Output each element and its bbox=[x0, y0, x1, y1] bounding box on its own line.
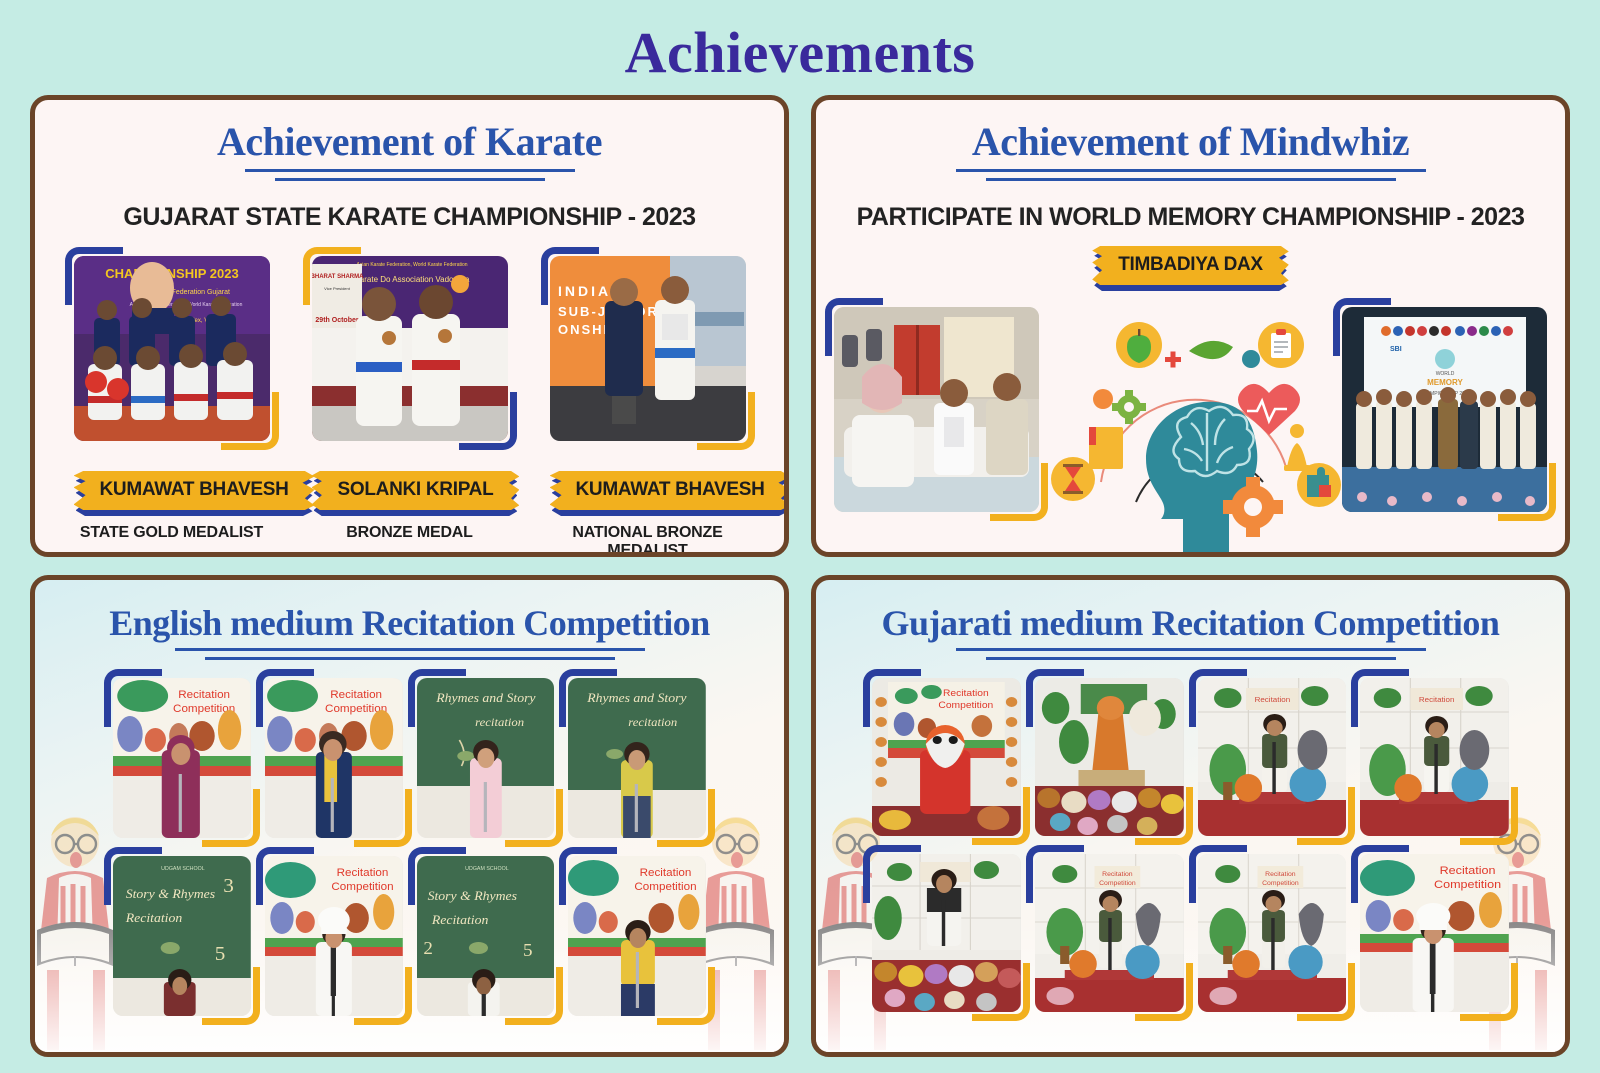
karate-photo-team: CHAMPIONSHIP 2023 Karate Do Federation G… bbox=[74, 256, 270, 441]
plus-icon bbox=[1165, 352, 1181, 368]
photo-box[interactable]: Recitation Competition bbox=[1360, 854, 1509, 1012]
svg-text:recitation: recitation bbox=[475, 715, 524, 729]
karate-team-photo-art: CHAMPIONSHIP 2023 Karate Do Federation G… bbox=[74, 256, 270, 441]
svg-text:Story & Rhymes: Story & Rhymes bbox=[427, 888, 516, 903]
card-english-recitation: English medium Recitation Competition Re… bbox=[30, 575, 789, 1057]
photo-box[interactable] bbox=[1035, 678, 1184, 836]
mindwhiz-body: SBI WORLD MEMORY CHAMPIONSHIP 2023 bbox=[816, 289, 1565, 557]
svg-text:BHARAT SHARMA: BHARAT SHARMA bbox=[312, 274, 364, 280]
recitation-photo: Recitation Competition bbox=[1035, 854, 1184, 1012]
achievements-grid: Achievement of Karate GUJARAT STATE KARA… bbox=[0, 95, 1600, 1057]
karate-photo-pair: Asian Karate Federation, World Karate Fe… bbox=[312, 256, 508, 441]
karate-name-2: SOLANKI KRIPAL bbox=[312, 471, 520, 510]
photo-box[interactable]: Recitation Competition bbox=[1198, 854, 1347, 1012]
photo-box[interactable]: Recitation Competition bbox=[113, 678, 251, 838]
recitation-photo-art: UDGAM SCHOOL Story & Rhymes Recitation 2… bbox=[417, 856, 555, 1016]
photo-box[interactable]: Recitation Competition bbox=[872, 678, 1021, 836]
svg-text:Recitation: Recitation bbox=[640, 867, 692, 879]
english-photo-grid: Recitation Competition bbox=[35, 660, 784, 1016]
photo-box[interactable]: CHAMPIONSHIP 2023 Karate Do Federation G… bbox=[74, 256, 270, 441]
svg-text:Recitation: Recitation bbox=[336, 867, 388, 879]
recitation-photo: Recitation Competition bbox=[568, 856, 706, 1016]
recitation-photo: Recitation Competition bbox=[1198, 854, 1347, 1012]
photo-box[interactable] bbox=[834, 307, 1039, 512]
photo-box[interactable]: SBI WORLD MEMORY CHAMPIONSHIP 2023 bbox=[1342, 307, 1547, 512]
recitation-photo-art: Recitation Competition bbox=[1360, 854, 1509, 1012]
recitation-photo-art: Recitation Competition bbox=[568, 856, 706, 1016]
svg-text:Competition: Competition bbox=[1099, 880, 1136, 887]
mindwhiz-title: Achievement of Mindwhiz bbox=[816, 100, 1565, 165]
svg-text:Recitation: Recitation bbox=[1419, 695, 1455, 703]
flag-row bbox=[1381, 326, 1513, 336]
photo-box[interactable]: Recitation Competition bbox=[265, 678, 403, 838]
recitation-photo-art: Recitation Competition bbox=[872, 678, 1021, 836]
svg-text:MEMORY: MEMORY bbox=[1427, 378, 1463, 387]
photo-box[interactable]: Recitation bbox=[1360, 678, 1509, 836]
rule-line bbox=[275, 178, 545, 181]
hourglass-icon-bg bbox=[1051, 457, 1095, 501]
karate-entry: KUMAWAT BHAVESH NATIONAL BRONZE MEDALIST bbox=[550, 471, 746, 557]
photo-box[interactable]: Asian Karate Federation, World Karate Fe… bbox=[312, 256, 508, 441]
gear-icon bbox=[1112, 390, 1146, 424]
svg-text:recitation: recitation bbox=[629, 715, 678, 729]
svg-text:5: 5 bbox=[522, 940, 532, 960]
photo-box[interactable]: Rhymes and Story recitation bbox=[417, 678, 555, 838]
gujarati-title-rules bbox=[816, 648, 1565, 660]
svg-text:3: 3 bbox=[223, 875, 234, 896]
recitation-photo-art: Rhymes and Story recitation bbox=[417, 678, 555, 838]
photo-box[interactable]: Recitation Competition bbox=[1035, 854, 1184, 1012]
gujarati-photo-grid: Recitation Competition bbox=[816, 660, 1565, 1012]
karate-official-photo-art: INDIA SUB-JUNIOR ONSHIP bbox=[550, 256, 746, 441]
svg-text:Rhymes and Story: Rhymes and Story bbox=[435, 690, 535, 705]
mindwhiz-student-name: TIMBADIYA DAX bbox=[1092, 246, 1289, 285]
name-ribbon: KUMAWAT BHAVESH bbox=[74, 471, 315, 510]
karate-pair-photo-art: Asian Karate Federation, World Karate Fe… bbox=[312, 256, 508, 441]
karate-photo-row: CHAMPIONSHIP 2023 Karate Do Federation G… bbox=[35, 256, 784, 441]
chess-piece-icon bbox=[1284, 424, 1310, 471]
mindwhiz-name-row: TIMBADIYA DAX bbox=[816, 246, 1565, 285]
svg-text:Recitation: Recitation bbox=[178, 689, 230, 701]
recitation-photo: Recitation Competition bbox=[265, 856, 403, 1016]
karate-caption-2: BRONZE MEDAL bbox=[312, 524, 508, 542]
karate-title: Achievement of Karate bbox=[35, 100, 784, 165]
recitation-photo: Recitation Competition bbox=[265, 678, 403, 838]
svg-text:Vice President: Vice President bbox=[324, 286, 351, 291]
svg-text:Story & Rhymes: Story & Rhymes bbox=[126, 886, 215, 901]
recitation-photo: UDGAM SCHOOL Story & Rhymes Recitation 2… bbox=[417, 856, 555, 1016]
name-ribbon: TIMBADIYA DAX bbox=[1092, 246, 1289, 285]
karate-name-3: KUMAWAT BHAVESH bbox=[550, 471, 790, 510]
svg-text:Recitation: Recitation bbox=[125, 910, 183, 925]
svg-text:2: 2 bbox=[423, 938, 433, 958]
photo-box[interactable] bbox=[872, 854, 1021, 1012]
name-ribbon: SOLANKI KRIPAL bbox=[312, 471, 520, 510]
karate-photo-official: INDIA SUB-JUNIOR ONSHIP bbox=[550, 256, 746, 441]
karate-title-rules bbox=[35, 169, 784, 181]
svg-text:UDGAM SCHOOL: UDGAM SCHOOL bbox=[161, 866, 205, 872]
recitation-photo: Recitation Competition bbox=[113, 678, 251, 838]
photo-box[interactable]: Recitation Competition bbox=[265, 856, 403, 1016]
recitation-photo: Recitation Competition bbox=[872, 678, 1021, 836]
english-title-rules bbox=[35, 648, 784, 660]
svg-text:Competition: Competition bbox=[331, 881, 393, 893]
recitation-photo-art: Recitation Competition bbox=[265, 678, 403, 838]
card-karate: Achievement of Karate GUJARAT STATE KARA… bbox=[30, 95, 789, 557]
karate-name-row: KUMAWAT BHAVESH STATE GOLD MEDALIST SOLA… bbox=[35, 471, 784, 557]
brain-infographic bbox=[1039, 307, 1342, 557]
rule-line bbox=[986, 178, 1396, 181]
card-mindwhiz: Achievement of Mindwhiz PARTICIPATE IN W… bbox=[811, 95, 1570, 557]
recitation-photo-art: UDGAM SCHOOL Story & Rhymes Recitation 3… bbox=[113, 856, 251, 1016]
recitation-photo-art: Recitation Competition bbox=[113, 678, 251, 838]
recitation-photo-art bbox=[1035, 678, 1184, 836]
karate-caption-1: STATE GOLD MEDALIST bbox=[74, 524, 270, 542]
svg-text:Asian Karate Federation, World: Asian Karate Federation, World Karate Fe… bbox=[356, 262, 467, 268]
karate-entry: KUMAWAT BHAVESH STATE GOLD MEDALIST bbox=[74, 471, 270, 557]
mindwhiz-stage-photo-art: SBI WORLD MEMORY CHAMPIONSHIP 2023 bbox=[1342, 307, 1547, 512]
rule-line bbox=[956, 648, 1426, 651]
recitation-photo-art: Recitation bbox=[1360, 678, 1509, 836]
mindwhiz-seated-photo-art bbox=[834, 307, 1039, 512]
recitation-photo-art: Recitation Competition bbox=[265, 856, 403, 1016]
svg-text:5: 5 bbox=[215, 943, 226, 964]
head-silhouette bbox=[1146, 402, 1257, 557]
svg-text:UDGAM SCHOOL: UDGAM SCHOOL bbox=[465, 866, 509, 872]
recitation-photo: UDGAM SCHOOL Story & Rhymes Recitation 3… bbox=[113, 856, 251, 1016]
recitation-photo: Recitation bbox=[1198, 678, 1347, 836]
recitation-photo-art: Recitation Competition bbox=[1198, 854, 1347, 1012]
photo-box[interactable]: INDIA SUB-JUNIOR ONSHIP bbox=[550, 256, 746, 441]
brain-infographic-art bbox=[1041, 307, 1341, 557]
recitation-photo: Rhymes and Story recitation bbox=[417, 678, 555, 838]
mindwhiz-photo-stage: SBI WORLD MEMORY CHAMPIONSHIP 2023 bbox=[1342, 307, 1547, 512]
mindwhiz-photo-seated bbox=[834, 307, 1039, 512]
karate-name-1: KUMAWAT BHAVESH bbox=[74, 471, 315, 510]
recitation-photo-art: Recitation Competition bbox=[1035, 854, 1184, 1012]
svg-text:INDIA: INDIA bbox=[558, 283, 611, 299]
photo-box[interactable]: Recitation bbox=[1198, 678, 1347, 836]
svg-text:Recitation: Recitation bbox=[1440, 864, 1496, 877]
rule-line bbox=[175, 648, 645, 651]
rule-line bbox=[245, 169, 575, 172]
karate-caption-3: NATIONAL BRONZE MEDALIST bbox=[550, 524, 746, 557]
dot-icon bbox=[1093, 389, 1113, 409]
recitation-photo-art: Rhymes and Story recitation bbox=[568, 678, 706, 838]
svg-text:Rhymes and Story: Rhymes and Story bbox=[586, 690, 686, 705]
dot-icon bbox=[1242, 350, 1260, 368]
recitation-photo: Rhymes and Story recitation bbox=[568, 678, 706, 838]
name-ribbon: KUMAWAT BHAVESH bbox=[550, 471, 790, 510]
recitation-photo-art bbox=[872, 854, 1021, 1012]
karate-subtitle: GUJARAT STATE KARATE CHAMPIONSHIP - 2023 bbox=[35, 203, 784, 232]
photo-box[interactable]: Rhymes and Story recitation bbox=[568, 678, 706, 838]
photo-box[interactable]: UDGAM SCHOOL Story & Rhymes Recitation 3… bbox=[113, 856, 251, 1016]
mindwhiz-title-rules bbox=[816, 169, 1565, 181]
photo-box[interactable]: Recitation Competition bbox=[568, 856, 706, 1016]
page-title: Achievements bbox=[0, 0, 1600, 95]
svg-text:Recitation: Recitation bbox=[1102, 871, 1133, 878]
svg-text:Competition: Competition bbox=[1434, 878, 1501, 891]
svg-text:Competition: Competition bbox=[938, 701, 993, 711]
mindwhiz-subtitle: PARTICIPATE IN WORLD MEMORY CHAMPIONSHIP… bbox=[816, 203, 1565, 232]
card-gujarati-recitation: Gujarati medium Recitation Competition R… bbox=[811, 575, 1570, 1057]
english-recitation-title: English medium Recitation Competition bbox=[35, 580, 784, 644]
recitation-photo bbox=[872, 854, 1021, 1012]
svg-text:Recitation: Recitation bbox=[330, 689, 382, 701]
svg-text:29th October: 29th October bbox=[315, 317, 358, 324]
gujarati-recitation-title: Gujarati medium Recitation Competition bbox=[816, 580, 1565, 644]
recitation-photo-art: Recitation bbox=[1198, 678, 1347, 836]
rule-line bbox=[956, 169, 1426, 172]
recitation-photo: Recitation bbox=[1360, 678, 1509, 836]
svg-text:Competition: Competition bbox=[635, 881, 697, 893]
photo-box[interactable]: UDGAM SCHOOL Story & Rhymes Recitation 2… bbox=[417, 856, 555, 1016]
karate-entry: SOLANKI KRIPAL BRONZE MEDAL bbox=[312, 471, 508, 557]
svg-text:Competition: Competition bbox=[1262, 880, 1299, 887]
recitation-photo bbox=[1035, 678, 1184, 836]
svg-text:WORLD: WORLD bbox=[1436, 371, 1455, 377]
svg-text:Recitation: Recitation bbox=[1265, 871, 1296, 878]
svg-text:Recitation: Recitation bbox=[943, 689, 989, 699]
leaf-icon bbox=[1189, 341, 1233, 359]
svg-text:Recitation: Recitation bbox=[1254, 695, 1290, 703]
svg-text:SBI: SBI bbox=[1390, 346, 1402, 353]
svg-text:Recitation: Recitation bbox=[430, 912, 488, 927]
recitation-photo: Recitation Competition bbox=[1360, 854, 1509, 1012]
